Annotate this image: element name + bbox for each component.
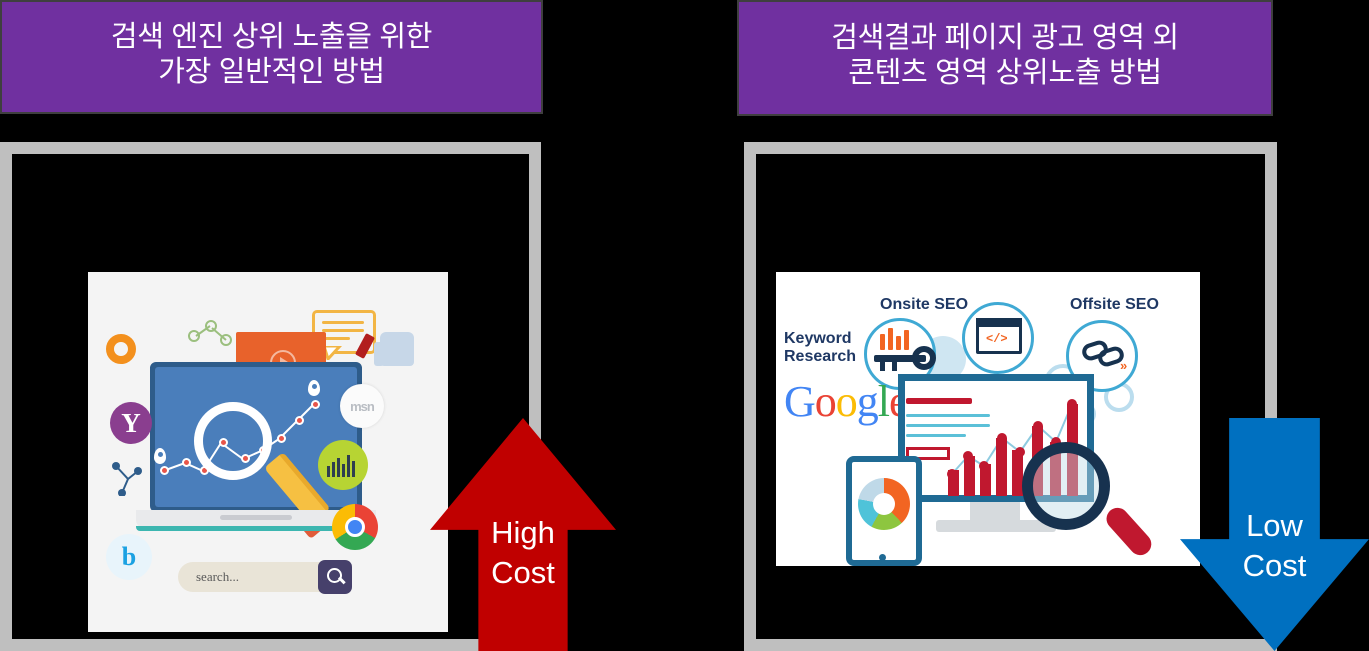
low-cost-label: Low Cost	[1180, 506, 1369, 585]
browser-titlebar	[976, 318, 1022, 327]
key-icon-tooth	[880, 362, 885, 371]
yahoo-badge-icon: Y	[110, 402, 152, 444]
search-placeholder: search...	[196, 569, 239, 585]
seo-laptop-illustration: Y msn search...	[88, 272, 448, 632]
seo-infographic-illustration: Keyword Research Onsite SEO Offsite SEO …	[776, 272, 1200, 566]
key-bar	[888, 328, 893, 350]
left-banner-text: 검색 엔진 상위 노출을 위한 가장 일반적인 방법	[111, 20, 432, 91]
map-pin-icon	[308, 380, 320, 396]
msn-label: msn	[350, 399, 374, 414]
chart-dot	[277, 434, 286, 443]
magnifier-icon	[194, 402, 272, 480]
chart-dot	[295, 416, 304, 425]
gear-icon	[106, 334, 136, 364]
search-button[interactable]	[318, 560, 352, 594]
google-wordmark: Google	[784, 376, 908, 427]
thumbs-up-icon	[380, 332, 414, 366]
chart-dot	[160, 466, 169, 475]
chart-dot	[311, 400, 320, 409]
donut-chart	[858, 478, 910, 530]
keyword-research-label: Keyword Research	[784, 330, 856, 367]
code-glyph: </>	[986, 332, 1008, 346]
right-banner-text: 검색결과 페이지 광고 영역 외 콘텐츠 영역 상위노출 방법	[831, 21, 1179, 92]
laptop-trackpad	[220, 515, 292, 520]
chrome-badge-icon	[332, 504, 378, 550]
key-bar	[896, 336, 901, 350]
chart-dot	[182, 458, 191, 467]
offsite-seo-label: Offsite SEO	[1070, 296, 1159, 314]
onsite-seo-label: Onsite SEO	[880, 296, 968, 314]
link-nodes-icon	[112, 462, 144, 496]
network-nodes-icon	[188, 320, 234, 350]
key-bar	[904, 330, 909, 350]
left-banner: 검색 엔진 상위 노출을 위한 가장 일반적인 방법	[0, 0, 543, 114]
link-arrow-icon: »	[1120, 358, 1127, 373]
msn-badge-icon: msn	[340, 384, 384, 428]
high-cost-label: High Cost	[430, 513, 616, 592]
key-icon-head	[912, 346, 936, 370]
magnifier-handle	[1102, 503, 1156, 559]
bing-badge-icon	[106, 534, 152, 580]
tablet-home-button	[879, 554, 886, 561]
key-bar	[880, 334, 885, 350]
key-icon-tooth	[892, 362, 897, 371]
monitor-stand	[936, 520, 1056, 532]
magnifier-icon	[1022, 442, 1110, 530]
map-pin-icon	[154, 448, 166, 464]
analytics-badge-icon	[318, 440, 368, 490]
right-banner: 검색결과 페이지 광고 영역 외 콘텐츠 영역 상위노출 방법	[737, 0, 1273, 116]
